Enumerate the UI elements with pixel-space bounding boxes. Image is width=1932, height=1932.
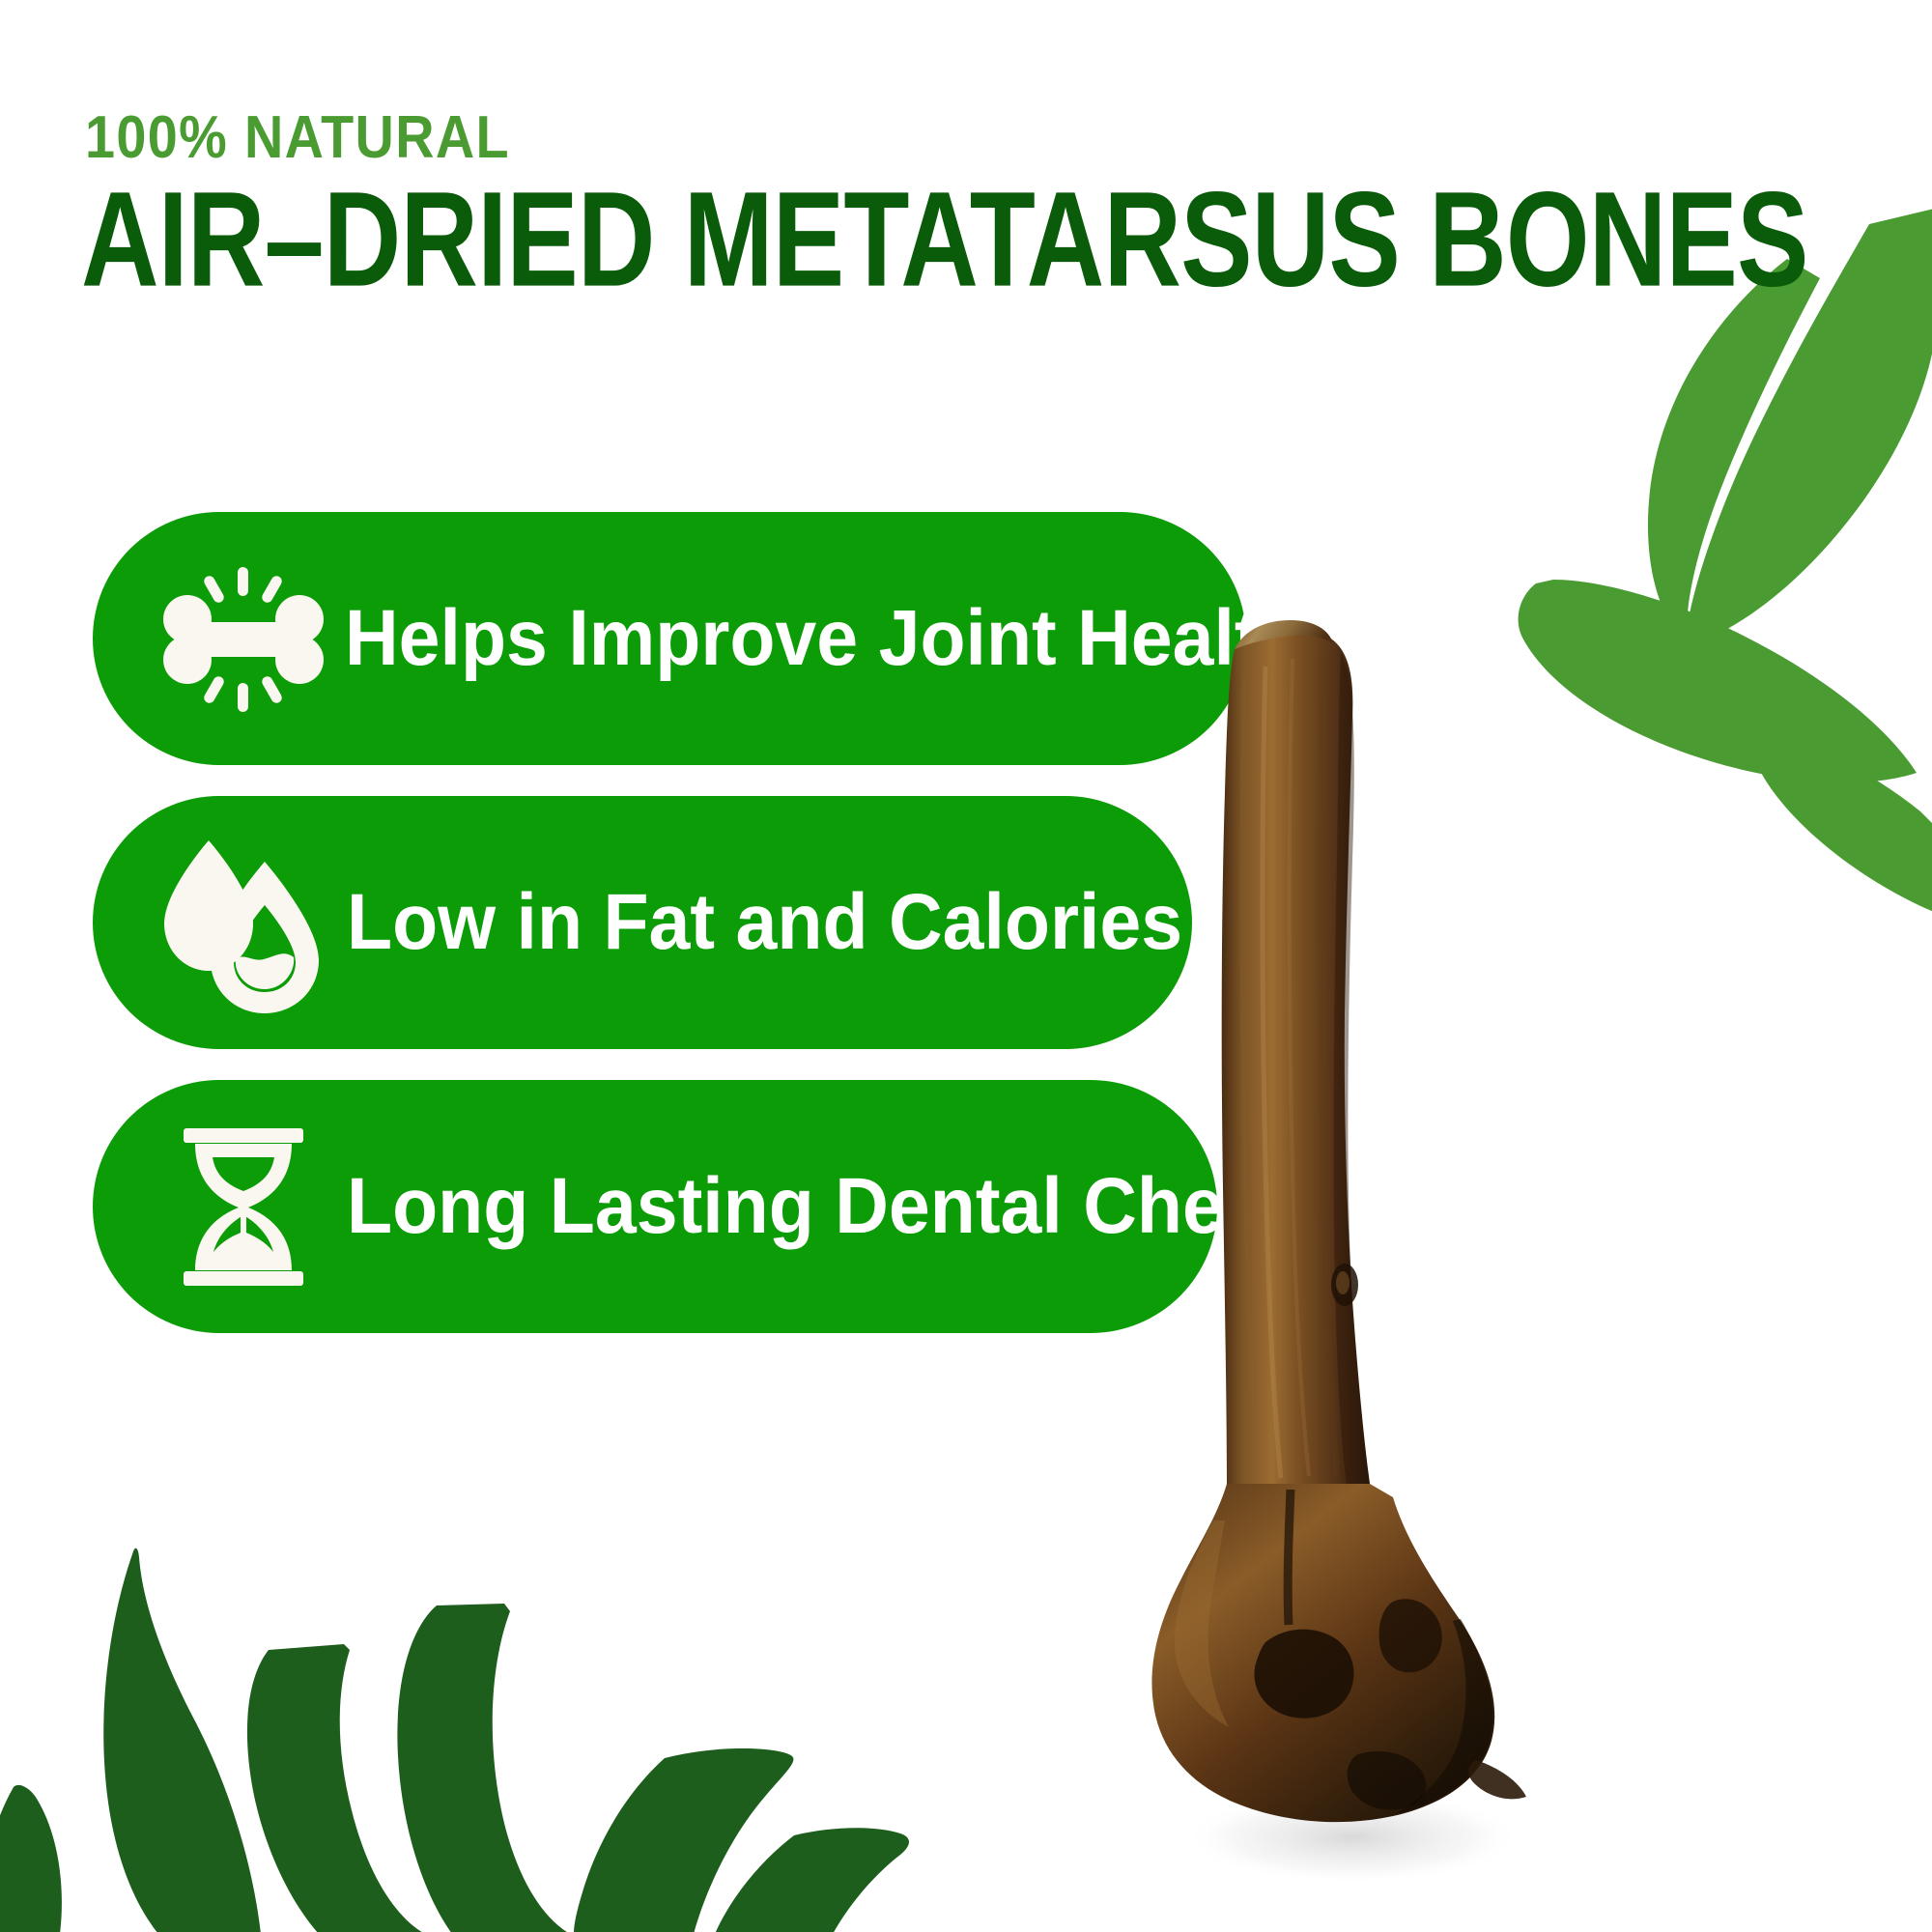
leaf-icon (0, 1785, 62, 1932)
feature-pill-label: Helps Improve Joint Health (345, 599, 1305, 678)
feature-pill-joint-health[interactable]: Helps Improve Joint Health (93, 512, 1246, 765)
page-title: AIR–DRIED METATARSUS BONES (81, 172, 1808, 307)
feature-pill-label: Low in Fat and Calories (347, 883, 1182, 962)
leaf-icon (103, 1548, 261, 1932)
water-droplets-icon (149, 831, 337, 1014)
leaf-icon (715, 1828, 909, 1932)
eyebrow-text: 100% NATURAL (85, 108, 510, 168)
feature-pill-low-fat[interactable]: Low in Fat and Calories (93, 796, 1192, 1049)
feature-pill-label: Long Lasting Dental Chew (347, 1167, 1282, 1246)
bone-fiber-streaks (1241, 659, 1337, 1480)
liquid-wave-icon (236, 953, 294, 989)
product-shadow (1183, 1791, 1521, 1884)
leaf-dark-green-group (0, 1548, 909, 1932)
bone-shaft (1222, 629, 1370, 1490)
leaf-icon (1519, 580, 1917, 782)
product-infographic-canvas: 100% NATURAL AIR–DRIED METATARSUS BONES (0, 0, 1932, 1932)
leaf-icon (247, 1644, 425, 1932)
leaf-icon (1648, 259, 1820, 645)
bone-shine-icon (149, 550, 337, 728)
feature-pill-long-lasting[interactable]: Long Lasting Dental Chew (93, 1080, 1217, 1333)
leaf-icon (397, 1604, 570, 1932)
leaf-icon (1752, 730, 1932, 912)
bone-knot (1331, 1264, 1358, 1306)
leaf-icon (574, 1748, 793, 1932)
bone-joint-end (1151, 1484, 1494, 1822)
hourglass-icon (149, 1115, 337, 1298)
